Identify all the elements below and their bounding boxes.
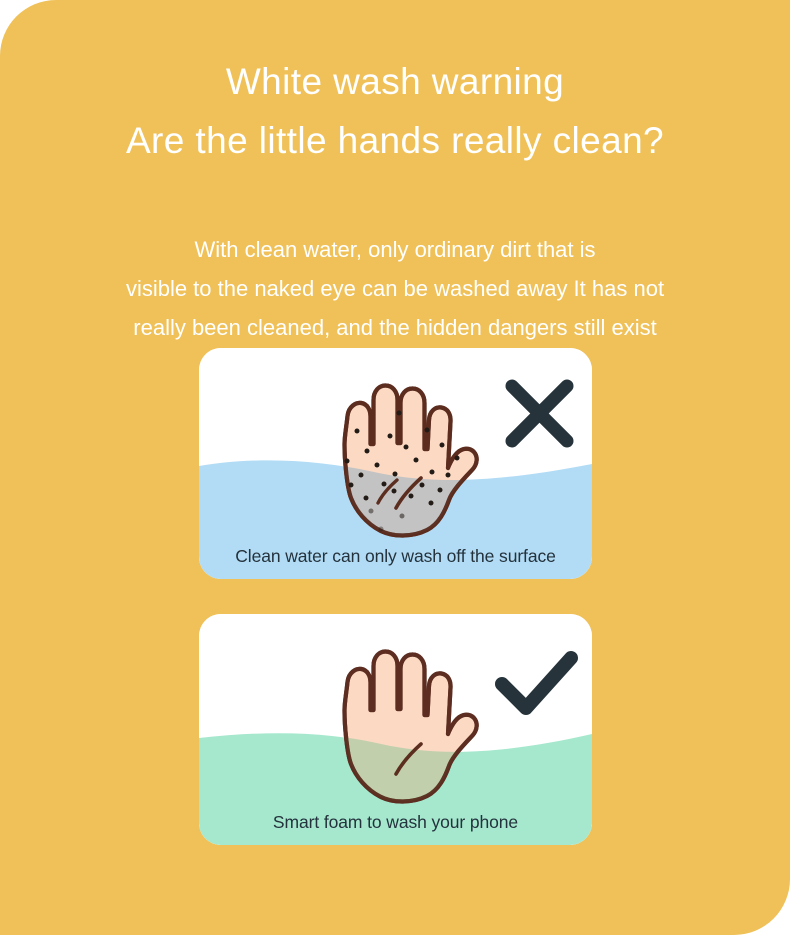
body-line-3: really been cleaned, and the hidden dang… [0,308,790,347]
body-paragraph: With clean water, only ordinary dirt tha… [0,230,790,347]
page-title: White wash warning Are the little hands … [0,52,790,170]
card-smart-foam-illustration [199,614,592,845]
body-line-1: With clean water, only ordinary dirt tha… [0,230,790,269]
card-smart-foam-caption: Smart foam to wash your phone [199,812,592,833]
body-line-2: visible to the naked eye can be washed a… [0,269,790,308]
headline-line-2: Are the little hands really clean? [0,111,790,170]
poster-root: White wash warning Are the little hands … [0,0,790,935]
card-clean-water-caption: Clean water can only wash off the surfac… [199,546,592,567]
headline-line-1: White wash warning [0,52,790,111]
card-clean-water[interactable]: Clean water can only wash off the surfac… [199,348,592,579]
card-clean-water-illustration [199,348,592,579]
card-smart-foam[interactable]: Smart foam to wash your phone [199,614,592,845]
